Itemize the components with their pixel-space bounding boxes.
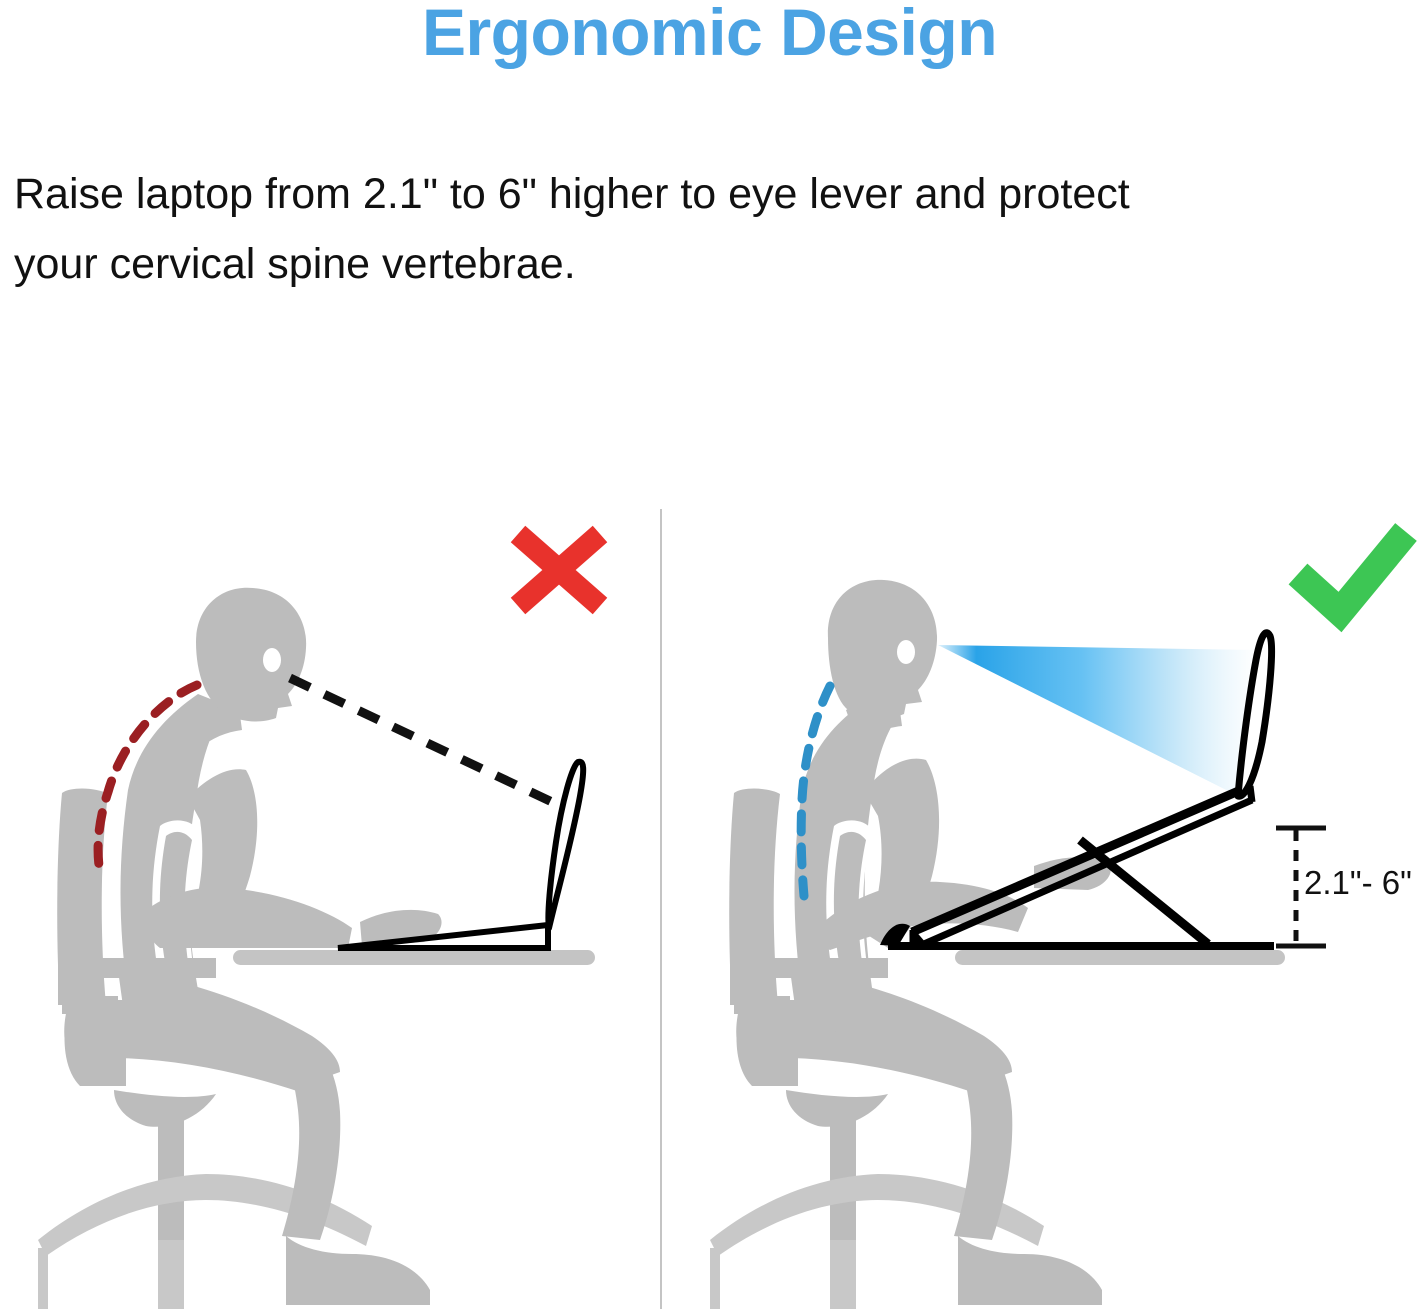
desk-surface-right (955, 950, 1285, 965)
vision-cone (938, 645, 1258, 806)
desk-surface-left (233, 950, 595, 965)
right-panel-correct-posture (662, 0, 1419, 1309)
left-panel-incorrect-posture (0, 0, 662, 1309)
check-icon (1298, 532, 1406, 612)
height-dimension-label: 2.1"- 6" (1304, 864, 1412, 902)
sight-line (290, 678, 552, 802)
ergonomic-design-infographic: Ergonomic Design Raise laptop from 2.1" … (0, 0, 1419, 1309)
cross-icon (518, 534, 600, 606)
